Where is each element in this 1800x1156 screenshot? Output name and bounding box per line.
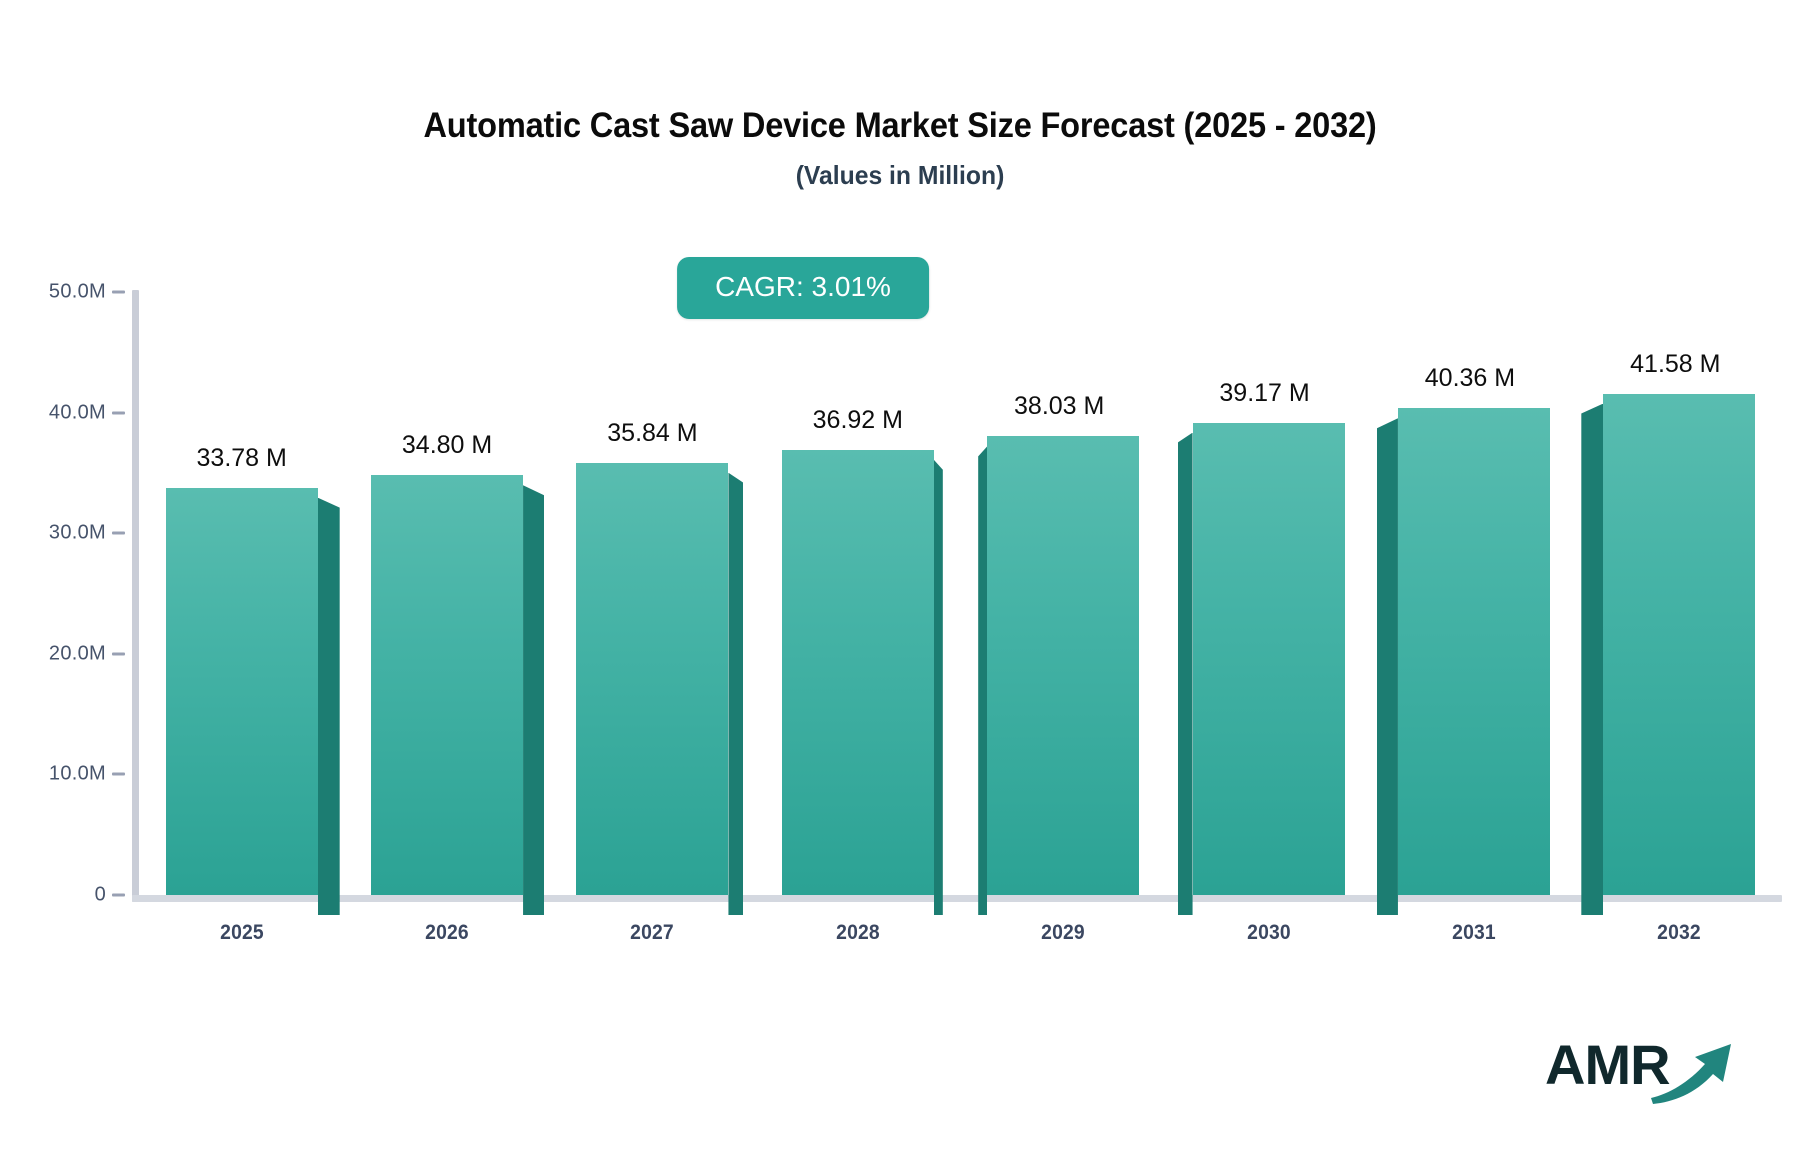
- bar-front-face: [1193, 423, 1345, 895]
- trending-up-arrow-icon: [1647, 1038, 1735, 1104]
- bar-front-face: [576, 463, 728, 895]
- bar-side-face: [978, 446, 987, 915]
- bar-side-face: [934, 460, 943, 915]
- x-axis-tick-label: 2031: [1452, 921, 1496, 945]
- y-axis-tick-mark: [112, 411, 125, 414]
- bar: [782, 450, 934, 895]
- bar-front-face: [987, 436, 1139, 895]
- x-axis-tick-label: 2030: [1247, 921, 1291, 945]
- bar-side-face: [1377, 418, 1398, 915]
- bar: [1398, 408, 1550, 895]
- chart-canvas: Automatic Cast Saw Device Market Size Fo…: [0, 0, 1800, 1156]
- bar-value-label: 34.80 M: [402, 431, 492, 460]
- bar-side-face: [318, 498, 340, 915]
- y-axis-tick-label: 10.0M: [10, 763, 106, 786]
- y-axis-tick-mark: [112, 291, 125, 294]
- bar-front-face: [782, 450, 934, 895]
- y-axis-tick-label: 50.0M: [10, 281, 106, 304]
- bar-side-face: [523, 485, 544, 915]
- y-axis-tick-mark: [112, 532, 125, 535]
- x-axis-line: [132, 895, 1782, 902]
- bar: [166, 488, 318, 895]
- x-axis-tick-label: 2028: [836, 921, 880, 945]
- x-axis-tick-label: 2025: [220, 921, 264, 945]
- y-axis-tick-mark: [112, 894, 125, 897]
- y-axis-tick-mark: [112, 773, 125, 776]
- bar-front-face: [1603, 394, 1755, 895]
- x-axis-tick-label: 2032: [1657, 921, 1701, 945]
- bar-front-face: [1398, 408, 1550, 895]
- bar-value-label: 39.17 M: [1219, 379, 1309, 408]
- y-axis-tick-label: 20.0M: [10, 642, 106, 665]
- bar: [576, 463, 728, 895]
- x-axis-tick-label: 2026: [425, 921, 469, 945]
- bar: [987, 436, 1139, 895]
- bar: [1603, 394, 1755, 895]
- bar-value-label: 40.36 M: [1425, 364, 1515, 393]
- bar-value-label: 35.84 M: [607, 419, 697, 448]
- bar-value-label: 36.92 M: [813, 406, 903, 435]
- bar-side-face: [1178, 433, 1193, 915]
- y-axis-tick-label: 40.0M: [10, 401, 106, 424]
- y-axis-line: [132, 290, 139, 902]
- bar-side-face: [728, 473, 743, 915]
- x-axis-tick-label: 2029: [1041, 921, 1085, 945]
- amr-logo: AMR: [1545, 1030, 1735, 1110]
- bar-value-label: 38.03 M: [1014, 392, 1104, 421]
- bar-front-face: [371, 475, 523, 895]
- bar-value-label: 33.78 M: [197, 444, 287, 473]
- plot-area: 50.0M40.0M30.0M20.0M10.0M0 33.78 M34.80 …: [0, 0, 1800, 1156]
- y-axis-tick-label: 30.0M: [10, 522, 106, 545]
- bar-value-label: 41.58 M: [1630, 350, 1720, 379]
- y-axis-tick-label: 0: [10, 884, 106, 907]
- bar: [1193, 423, 1345, 895]
- bar-front-face: [166, 488, 318, 895]
- y-axis-tick-mark: [112, 652, 125, 655]
- bar: [371, 475, 523, 895]
- bar-side-face: [1581, 404, 1603, 915]
- x-axis-tick-label: 2027: [631, 921, 675, 945]
